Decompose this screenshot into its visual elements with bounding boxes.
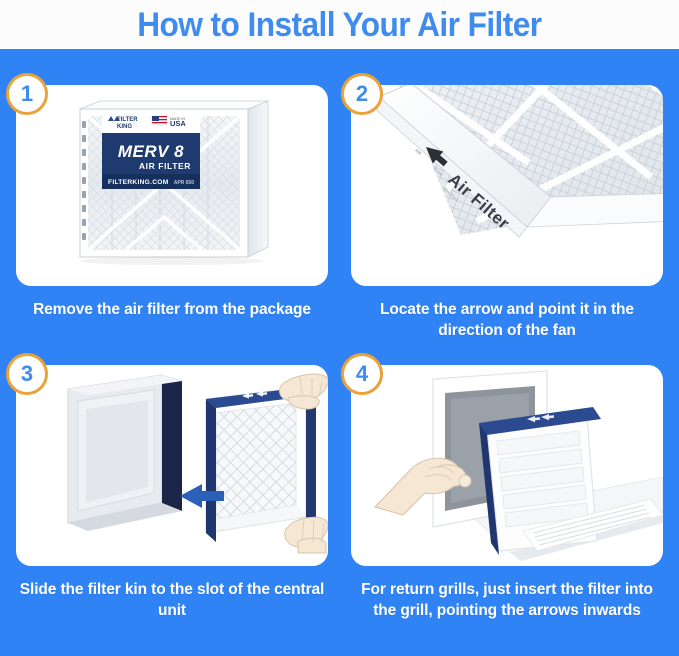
svg-text:USA: USA	[170, 119, 186, 128]
step-3-image-card: 3	[16, 365, 328, 566]
step-card-3: 3 Slide the filter kin to the slot of th…	[16, 365, 328, 622]
filter-corner-arrow-photo: AIR FLOW Air Filter 20x20x1	[351, 85, 663, 286]
svg-text:FILTERKING.COM: FILTERKING.COM	[108, 179, 169, 186]
infographic-page: How to Install Your Air Filter	[0, 0, 679, 656]
page-title: How to Install Your Air Filter	[137, 8, 541, 42]
svg-text:APR 650: APR 650	[174, 180, 195, 186]
step-badge-4: 4	[341, 353, 383, 395]
step-caption-1: Remove the air filter from the package	[16, 300, 328, 321]
svg-text:FILTER: FILTER	[117, 117, 138, 123]
svg-text:AIR FILTER: AIR FILTER	[139, 161, 191, 171]
step-badge-3: 3	[6, 353, 48, 395]
step-badge-2: 2	[341, 73, 383, 115]
step-1-image-card: FILTER KING MADE IN USA	[16, 85, 328, 286]
header-band: How to Install Your Air Filter	[0, 0, 679, 49]
step-4-image-card: 4	[351, 365, 663, 566]
step-card-4: 4 For return grills, just insert the fil…	[351, 365, 663, 622]
slide-filter-into-unit-illustration	[16, 365, 328, 566]
step-number-1: 1	[21, 83, 33, 105]
steps-grid: FILTER KING MADE IN USA	[0, 49, 679, 656]
step-caption-3: Slide the filter kin to the slot of the …	[16, 580, 328, 622]
merv8-air-filter-photo: FILTER KING MADE IN USA	[16, 85, 328, 286]
step-badge-1: 1	[6, 73, 48, 115]
step-number-3: 3	[21, 363, 33, 385]
step-card-1: FILTER KING MADE IN USA	[16, 85, 328, 321]
step-number-4: 4	[356, 363, 368, 385]
svg-text:KING: KING	[117, 124, 132, 130]
step-card-2: AIR FLOW Air Filter 20x20x1 2 Locate the…	[351, 85, 663, 342]
step-caption-2: Locate the arrow and point it in the dir…	[351, 300, 663, 342]
step-caption-4: For return grills, just insert the filte…	[351, 580, 663, 622]
svg-text:MERV 8: MERV 8	[118, 142, 184, 161]
insert-filter-return-grill-illustration	[351, 365, 663, 566]
step-2-image-card: AIR FLOW Air Filter 20x20x1 2	[351, 85, 663, 286]
step-number-2: 2	[356, 83, 368, 105]
